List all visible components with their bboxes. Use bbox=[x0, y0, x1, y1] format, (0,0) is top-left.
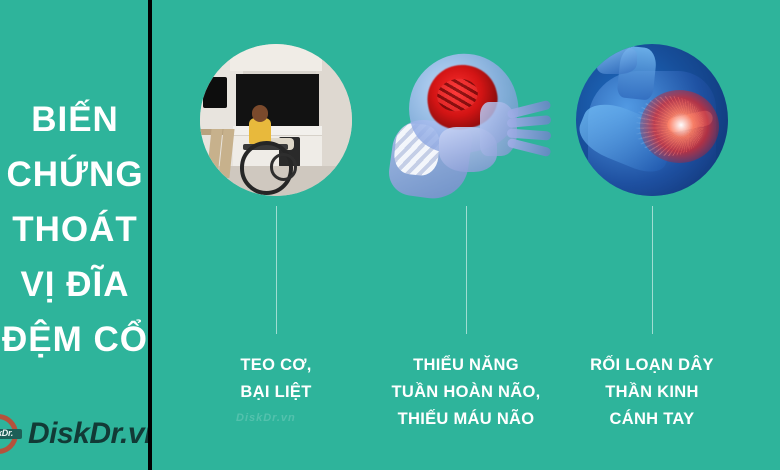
label-1-line-2: BẠI LIỆT bbox=[176, 379, 376, 406]
label-3-line-1: RỐI LOẠN DÂY bbox=[552, 352, 752, 379]
wheelchair-small-wheel-shape bbox=[270, 153, 297, 180]
tv-shape bbox=[203, 77, 227, 107]
complication-label-1: TEO CƠ, BẠI LIỆT bbox=[176, 352, 376, 406]
complication-item-1[interactable]: TEO CƠ, BẠI LIỆT bbox=[176, 0, 376, 470]
label-3-line-3: CÁNH TAY bbox=[552, 406, 752, 433]
complication-image-2 bbox=[390, 44, 542, 196]
title-line-4: VỊ ĐĨA bbox=[0, 257, 150, 312]
backsplash-shape bbox=[236, 74, 318, 126]
brand-name-text: DiskDr.vn bbox=[28, 417, 150, 451]
label-2-line-3: THIẾU MÁU NÃO bbox=[366, 406, 566, 433]
finger-shape-2 bbox=[506, 116, 551, 129]
shoulder-scene-illustration bbox=[576, 44, 728, 196]
diskdr-logo-icon: DiskDr. bbox=[0, 412, 26, 456]
page-title: BIẾN CHỨNG THOÁT VỊ ĐĨA ĐỆM CỔ bbox=[0, 92, 150, 367]
finger-shape-4 bbox=[506, 138, 551, 158]
hand-shape bbox=[507, 105, 551, 163]
pain-glow-shape bbox=[640, 90, 719, 163]
label-2-line-2: TUẦN HOÀN NÃO, bbox=[366, 379, 566, 406]
logo-mark-label: DiskDr. bbox=[0, 428, 13, 438]
complication-image-1 bbox=[200, 44, 352, 196]
title-line-3: THOÁT bbox=[0, 202, 150, 257]
wheelchair-photo bbox=[200, 44, 352, 196]
ceiling-shape bbox=[230, 44, 321, 71]
title-line-1: BIẾN bbox=[0, 92, 150, 147]
complications-panel: TEO CƠ, BẠI LIỆT bbox=[152, 0, 780, 470]
complication-label-2: THIỂU NĂNG TUẦN HOÀN NÃO, THIẾU MÁU NÃO bbox=[366, 352, 566, 433]
label-3-line-2: THẦN KINH bbox=[552, 379, 752, 406]
infographic-canvas: BIẾN CHỨNG THOÁT VỊ ĐĨA ĐỆM CỔ DiskDr. D… bbox=[0, 0, 780, 470]
complication-label-3: RỐI LOẠN DÂY THẦN KINH CÁNH TAY bbox=[552, 352, 752, 433]
label-1-line-1: TEO CƠ, bbox=[176, 352, 376, 379]
left-title-panel: BIẾN CHỨNG THOÁT VỊ ĐĨA ĐỆM CỔ DiskDr. D… bbox=[0, 0, 150, 470]
person-head-shape bbox=[252, 105, 269, 122]
connector-line-3 bbox=[652, 206, 653, 334]
title-line-5: ĐỆM CỔ bbox=[0, 312, 150, 367]
connector-line-1 bbox=[276, 206, 277, 334]
connector-line-2 bbox=[466, 206, 467, 334]
brand-logo[interactable]: DiskDr. DiskDr.vn bbox=[0, 412, 150, 456]
chin-shape bbox=[597, 47, 637, 74]
title-line-2: CHỨNG bbox=[0, 147, 150, 202]
complication-item-2[interactable]: THIỂU NĂNG TUẦN HOÀN NÃO, THIẾU MÁU NÃO bbox=[366, 0, 566, 470]
complication-item-3[interactable]: RỐI LOẠN DÂY THẦN KINH CÁNH TAY bbox=[552, 0, 752, 470]
complication-image-3 bbox=[576, 44, 728, 196]
label-2-line-1: THIỂU NĂNG bbox=[366, 352, 566, 379]
brain-anatomy-illustration bbox=[381, 44, 551, 204]
head-scene-illustration bbox=[381, 44, 551, 204]
room-scene-illustration bbox=[200, 44, 352, 196]
shoulder-anatomy-illustration bbox=[576, 44, 728, 196]
